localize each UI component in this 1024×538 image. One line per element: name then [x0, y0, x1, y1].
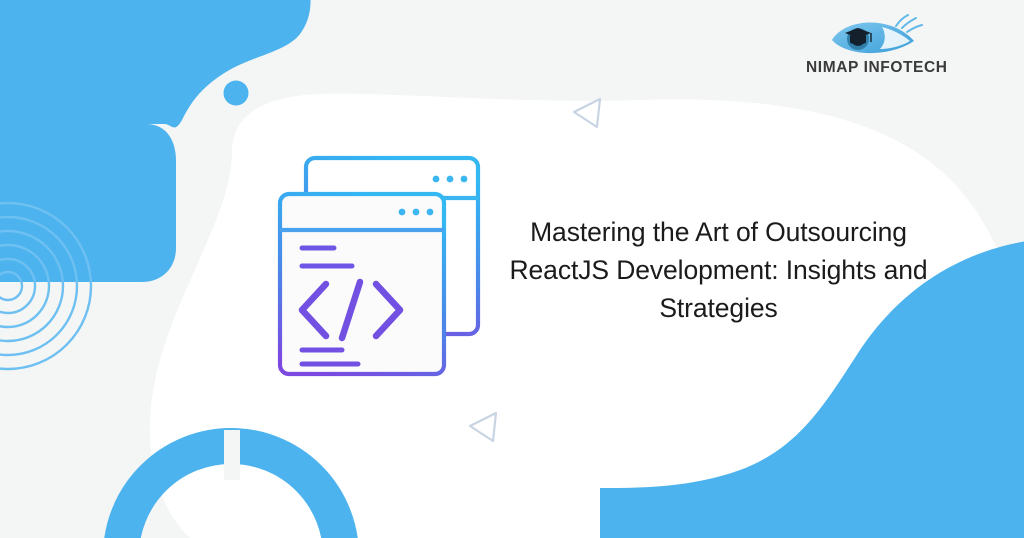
page-title: Mastering the Art of Outsourcing ReactJS…: [500, 213, 937, 327]
back-window-dots: [433, 176, 468, 183]
front-window: [280, 194, 444, 374]
eye-graduation-cap-icon: [826, 14, 926, 58]
blog-banner: NIMAP INFOTECH Mastering the Art of Outs…: [0, 0, 1024, 538]
brand-name: NIMAP INFOTECH: [806, 59, 946, 77]
front-window-dots: [399, 209, 434, 216]
code-windows-illustration: [272, 150, 488, 382]
eyelash-strokes: [896, 15, 922, 32]
blue-dot: [224, 81, 249, 106]
brand-logo: NIMAP INFOTECH: [806, 14, 946, 84]
